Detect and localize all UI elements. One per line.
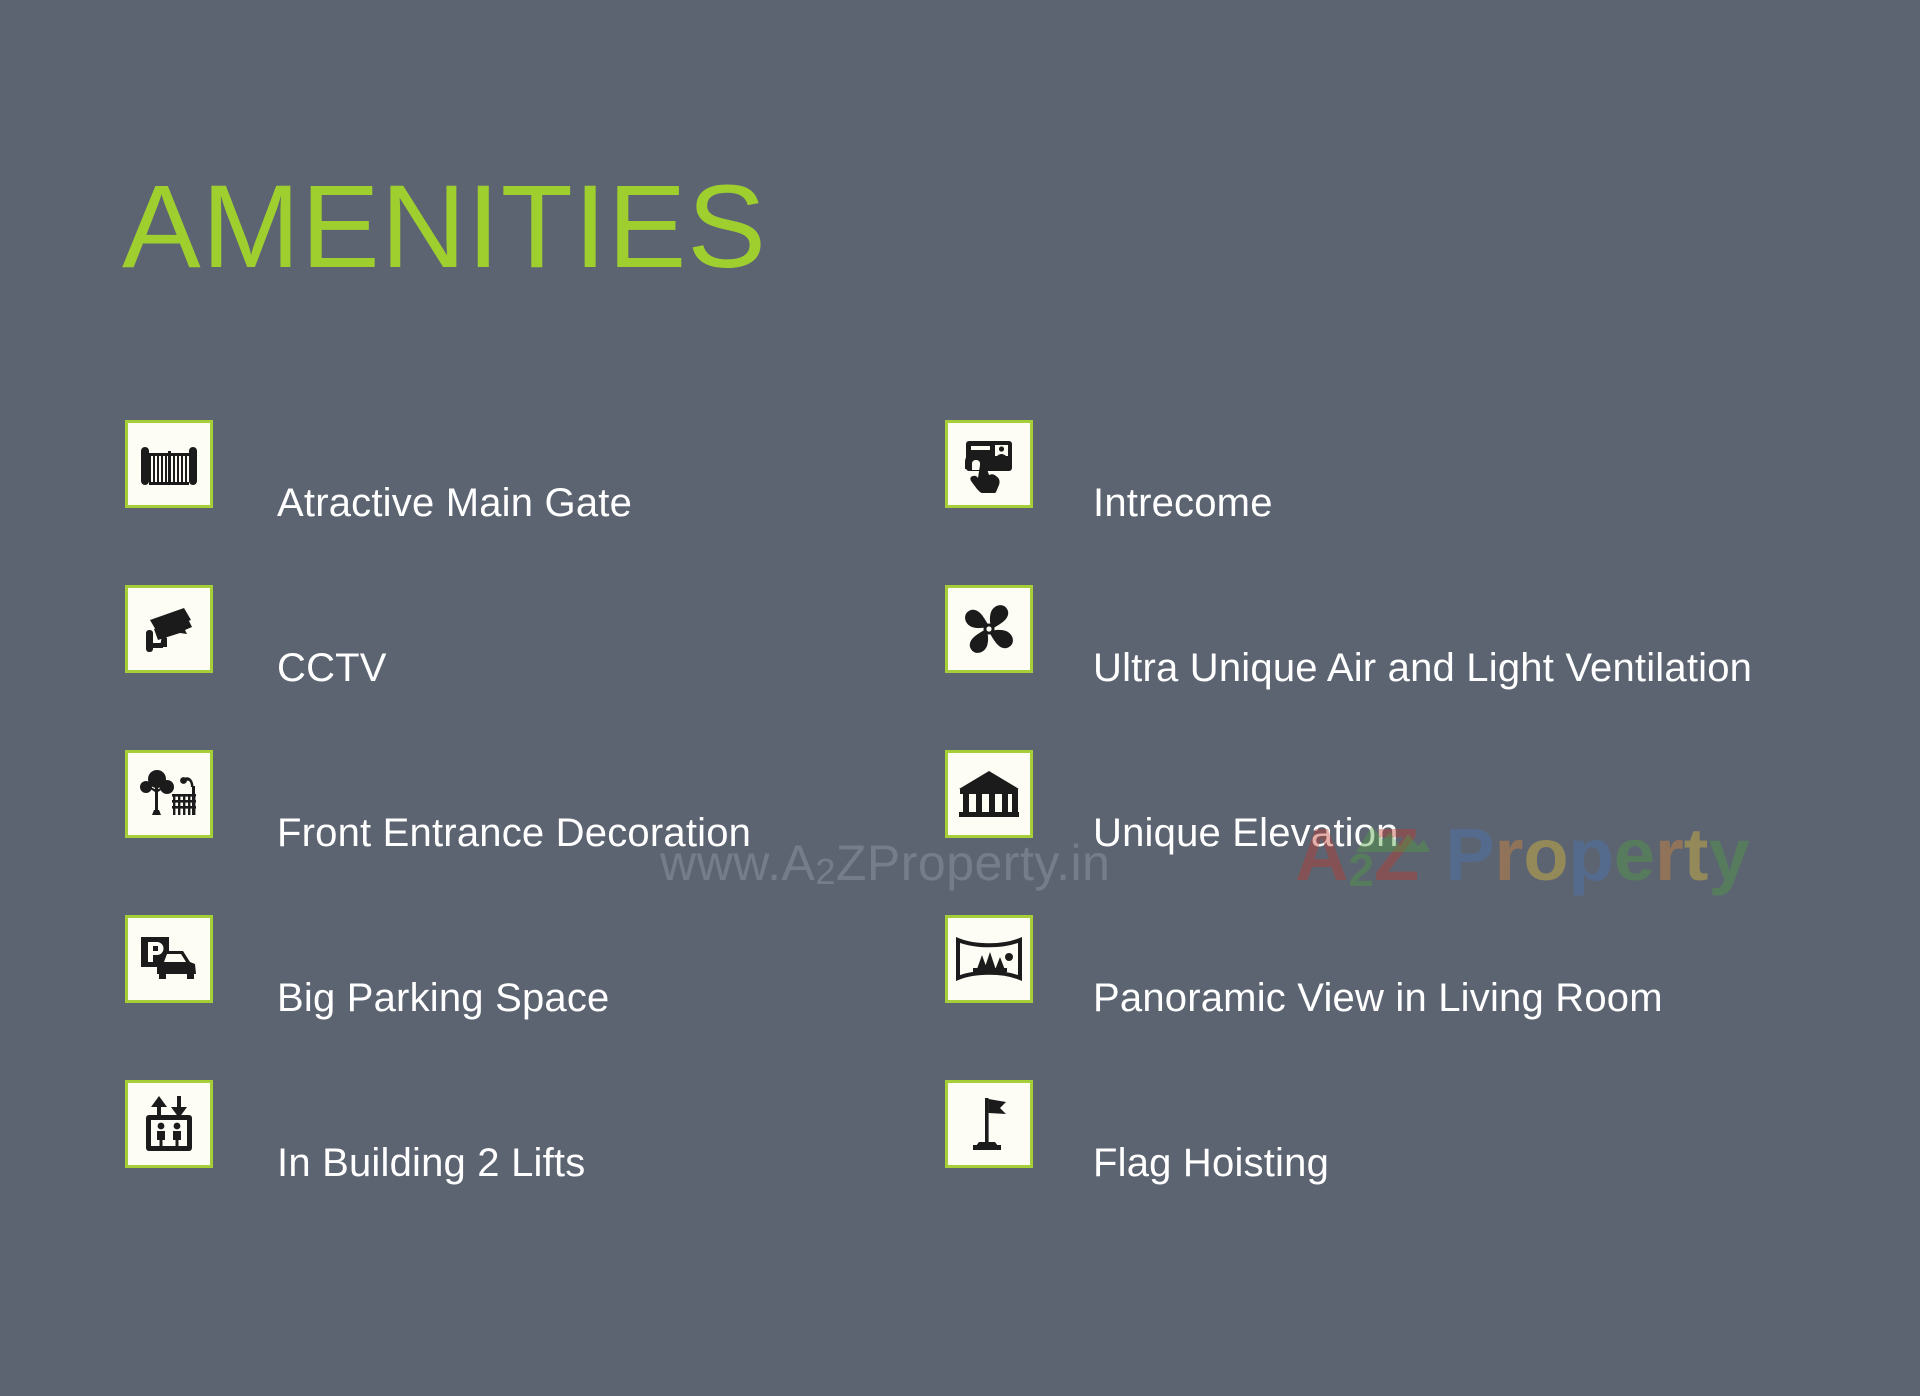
- entrance-decoration-icon: [125, 750, 213, 838]
- parking-car-icon: [125, 915, 213, 1003]
- watermark-url-suffix: ZProperty.in: [836, 835, 1111, 891]
- cctv-camera-icon: [125, 585, 213, 673]
- amenity-label: Atractive Main Gate: [277, 481, 632, 525]
- elevator-icon: [125, 1080, 213, 1168]
- watermark-logo-letter: t: [1684, 818, 1709, 892]
- amenity-label: Ultra Unique Air and Light Ventilation: [1093, 646, 1752, 690]
- watermark-logo-letter: A: [1295, 818, 1348, 892]
- watermark-logo-letter: P: [1445, 818, 1494, 892]
- watermark-logo-letter: p: [1569, 818, 1614, 892]
- amenity-label: Big Parking Space: [277, 976, 609, 1020]
- ventilation-fan-icon: [945, 585, 1033, 673]
- watermark-logo-mountain-icon: [1352, 820, 1430, 854]
- watermark-logo-letter: o: [1523, 818, 1568, 892]
- watermark-url-prefix: www.A: [660, 835, 815, 891]
- amenity-label: Flag Hoisting: [1093, 1141, 1329, 1185]
- watermark-url-subscript: 2: [815, 851, 836, 892]
- intercom-icon: [945, 420, 1033, 508]
- watermark-logo-letter: r: [1495, 818, 1524, 892]
- amenity-label: Panoramic View in Living Room: [1093, 976, 1663, 1020]
- amenities-slide: AMENITIES: [0, 0, 1920, 1396]
- amenity-label: CCTV: [277, 646, 387, 690]
- main-gate-icon: [125, 420, 213, 508]
- panoramic-view-icon: [945, 915, 1033, 1003]
- page-title: AMENITIES: [122, 168, 767, 286]
- flag-hoisting-icon: [945, 1080, 1033, 1168]
- amenity-label: In Building 2 Lifts: [277, 1141, 585, 1185]
- watermark-url: www.A2ZProperty.in: [660, 838, 1110, 893]
- watermark-logo-letter: r: [1655, 818, 1684, 892]
- watermark-logo-letter: e: [1614, 818, 1655, 892]
- building-elevation-icon: [945, 750, 1033, 838]
- watermark-logo-letter: y: [1708, 818, 1749, 892]
- amenity-label: Intrecome: [1093, 481, 1273, 525]
